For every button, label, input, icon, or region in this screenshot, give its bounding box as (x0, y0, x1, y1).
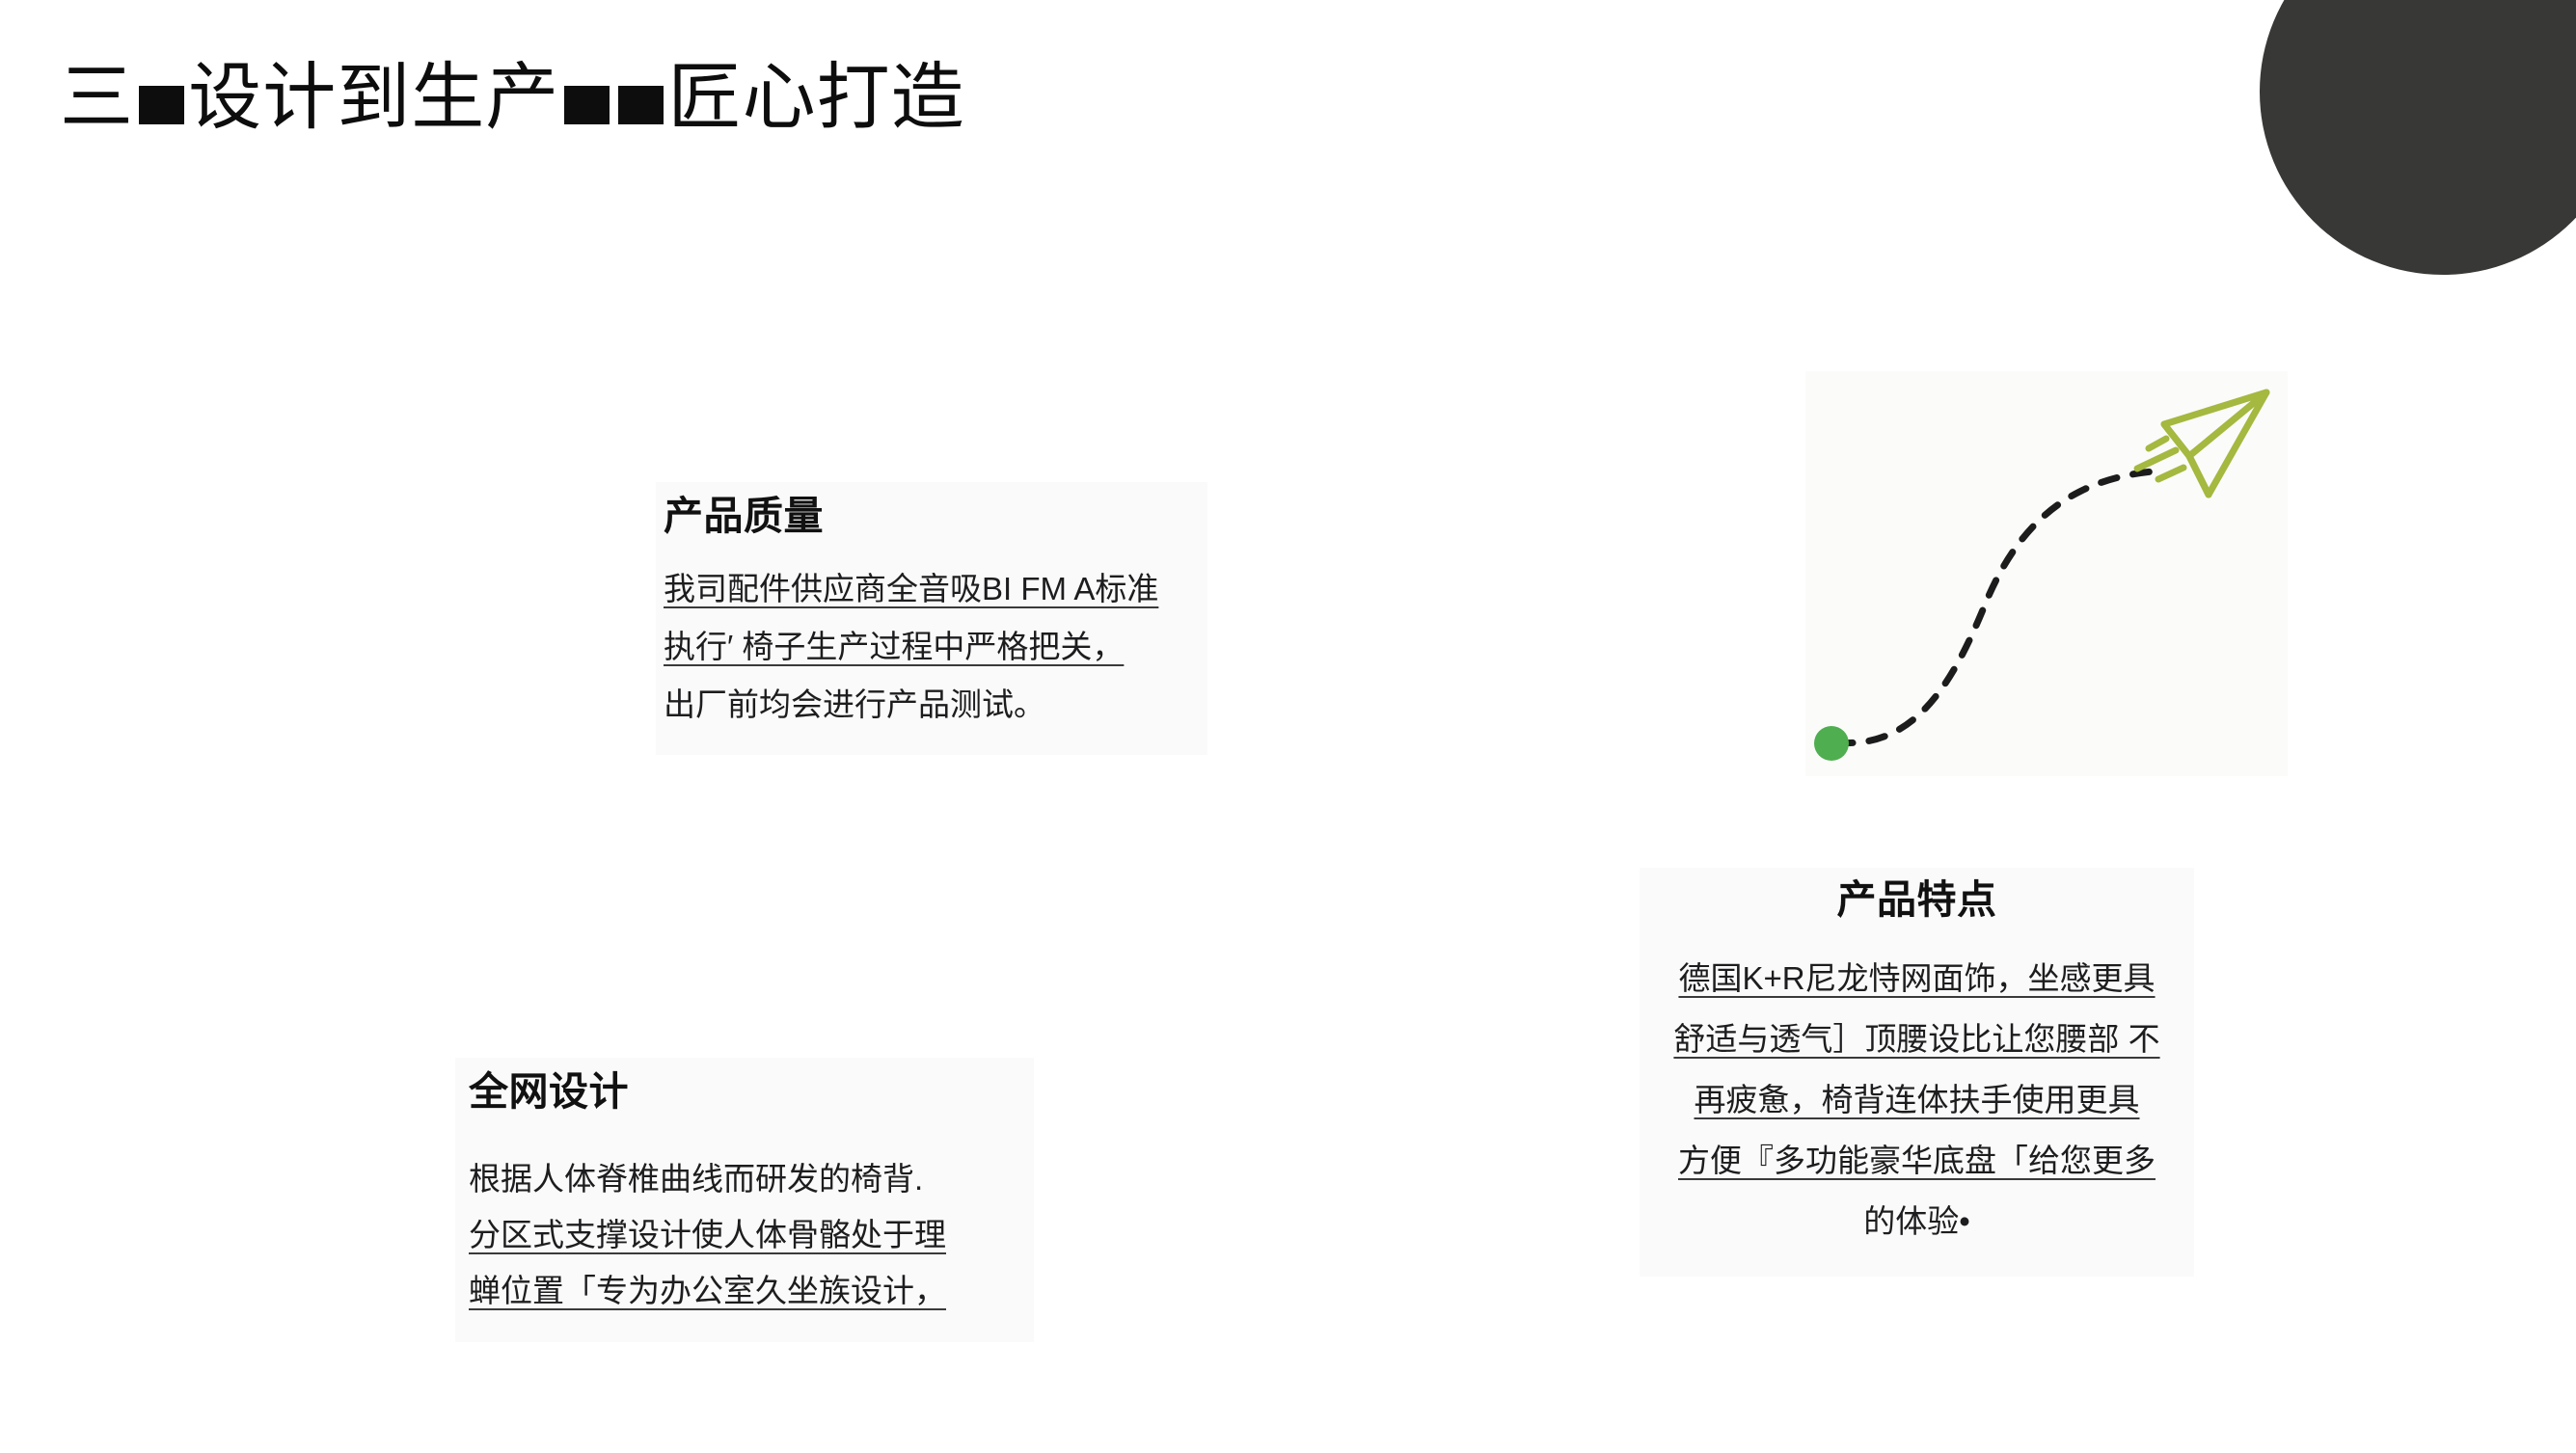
card-body-full-web-design: 根据人体脊椎曲线而研发的椅背. 分区式支撑设计使人体骨骼处于理 蝉位置「专为办公… (469, 1151, 1034, 1319)
title-tofu-icon-2 (564, 86, 610, 124)
body-line: 蝉位置「专为办公室久坐族设计， (469, 1263, 1034, 1319)
trail-origin-dot (1814, 726, 1849, 761)
card-body-product-quality: 我司配件供应商全音吸BI FM A标准 执行′ 椅子生产过程中严格把关， 出厂前… (664, 560, 1207, 734)
title-segment-1: 三 (60, 58, 134, 139)
paper-plane-illustration (1805, 371, 2288, 776)
body-line: 分区式支撑设计使人体骨骼处于理 (469, 1207, 1034, 1263)
body-line: 我司配件供应商全音吸BI FM A标准 (664, 560, 1207, 618)
title-segment-3: 匠心打造 (668, 58, 965, 139)
page-title: 三设计到生产匠心打造 (60, 58, 965, 140)
title-tofu-icon-3 (618, 86, 664, 124)
dark-circle-decoration (2260, 0, 2576, 275)
card-heading-full-web-design: 全网设计 (469, 1069, 1034, 1115)
text-card-product-quality: 产品质量 我司配件供应商全音吸BI FM A标准 执行′ 椅子生产过程中严格把关… (656, 482, 1207, 755)
body-line: 再疲惫，椅背连体扶手使用更具 (1640, 1069, 2194, 1130)
body-line: 德国K+R尼龙恃网面饰，坐感更具 (1640, 948, 2194, 1009)
dashed-trail-path (1836, 471, 2153, 743)
card-body-product-features: 德国K+R尼龙恃网面饰，坐感更具 舒适与透气］顶腰设比让您腰部 不 再疲惫，椅背… (1640, 948, 2194, 1251)
title-segment-2: 设计到生产 (188, 58, 559, 139)
body-line: 根据人体脊椎曲线而研发的椅背. (469, 1151, 1034, 1207)
body-line: 舒适与透气］顶腰设比让您腰部 不 (1640, 1009, 2194, 1069)
body-line: 的体验• (1640, 1191, 2194, 1251)
body-line: 出厂前均会进行产品测试。 (664, 676, 1207, 734)
body-line: 方便『多功能豪华底盘「给您更多 (1640, 1130, 2194, 1191)
text-card-product-features: 产品特点 德国K+R尼龙恃网面饰，坐感更具 舒适与透气］顶腰设比让您腰部 不 再… (1640, 868, 2194, 1277)
plane-body (2164, 392, 2266, 495)
body-line: 执行′ 椅子生产过程中严格把关， (664, 618, 1207, 676)
title-tofu-icon-1 (139, 86, 184, 124)
text-card-full-web-design: 全网设计 根据人体脊椎曲线而研发的椅背. 分区式支撑设计使人体骨骼处于理 蝉位置… (455, 1058, 1034, 1342)
paper-plane-icon (1805, 371, 2288, 776)
card-heading-product-quality: 产品质量 (664, 494, 1207, 539)
slide-canvas: 三设计到生产匠心打造 产品质量 我司配件供应商全音吸BI FM A标准 执行′ … (0, 0, 2576, 1453)
card-heading-product-features: 产品特点 (1640, 877, 2194, 923)
